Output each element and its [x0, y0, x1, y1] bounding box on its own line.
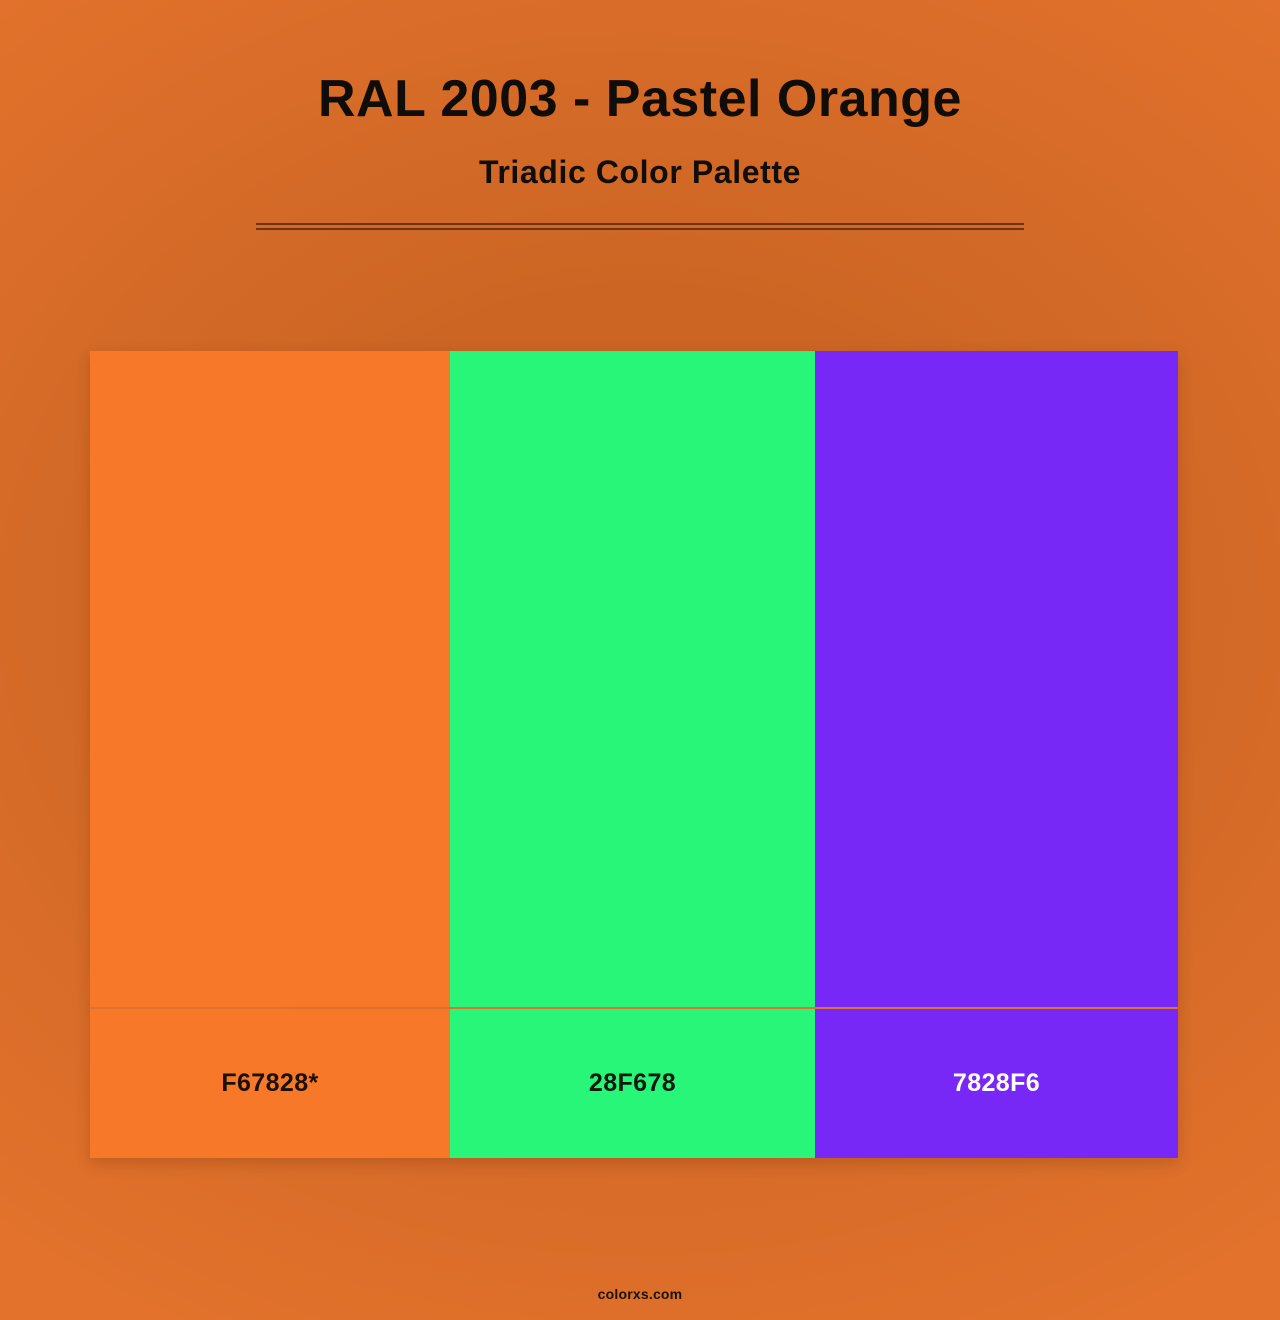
header-divider — [256, 223, 1024, 230]
color-hex-label: 7828F6 — [953, 1071, 1040, 1096]
color-swatch-label-band: 28F678 — [450, 1009, 815, 1158]
color-palette-strip: F67828* 28F678 7828F6 — [90, 351, 1178, 1158]
color-swatch-label-band: 7828F6 — [815, 1009, 1178, 1158]
color-swatch-column[interactable]: F67828* — [90, 351, 450, 1158]
footer-site-name: colorxs.com — [598, 1286, 683, 1302]
color-palette-page: { "header": { "title": "RAL 2003 - Paste… — [0, 0, 1280, 1320]
color-swatch-fill[interactable] — [815, 351, 1178, 1007]
page-footer: colorxs.com — [0, 1286, 1280, 1304]
color-swatch-column[interactable]: 7828F6 — [815, 351, 1178, 1158]
page-header: RAL 2003 - Pastel Orange Triadic Color P… — [0, 0, 1280, 230]
color-hex-label: F67828* — [221, 1071, 318, 1096]
page-title: RAL 2003 - Pastel Orange — [0, 70, 1280, 128]
page-subtitle: Triadic Color Palette — [0, 154, 1280, 191]
color-hex-label: 28F678 — [589, 1071, 676, 1096]
color-swatch-fill[interactable] — [90, 351, 450, 1007]
color-swatch-fill[interactable] — [450, 351, 815, 1007]
color-swatch-label-band: F67828* — [90, 1009, 450, 1158]
color-swatch-column[interactable]: 28F678 — [450, 351, 815, 1158]
